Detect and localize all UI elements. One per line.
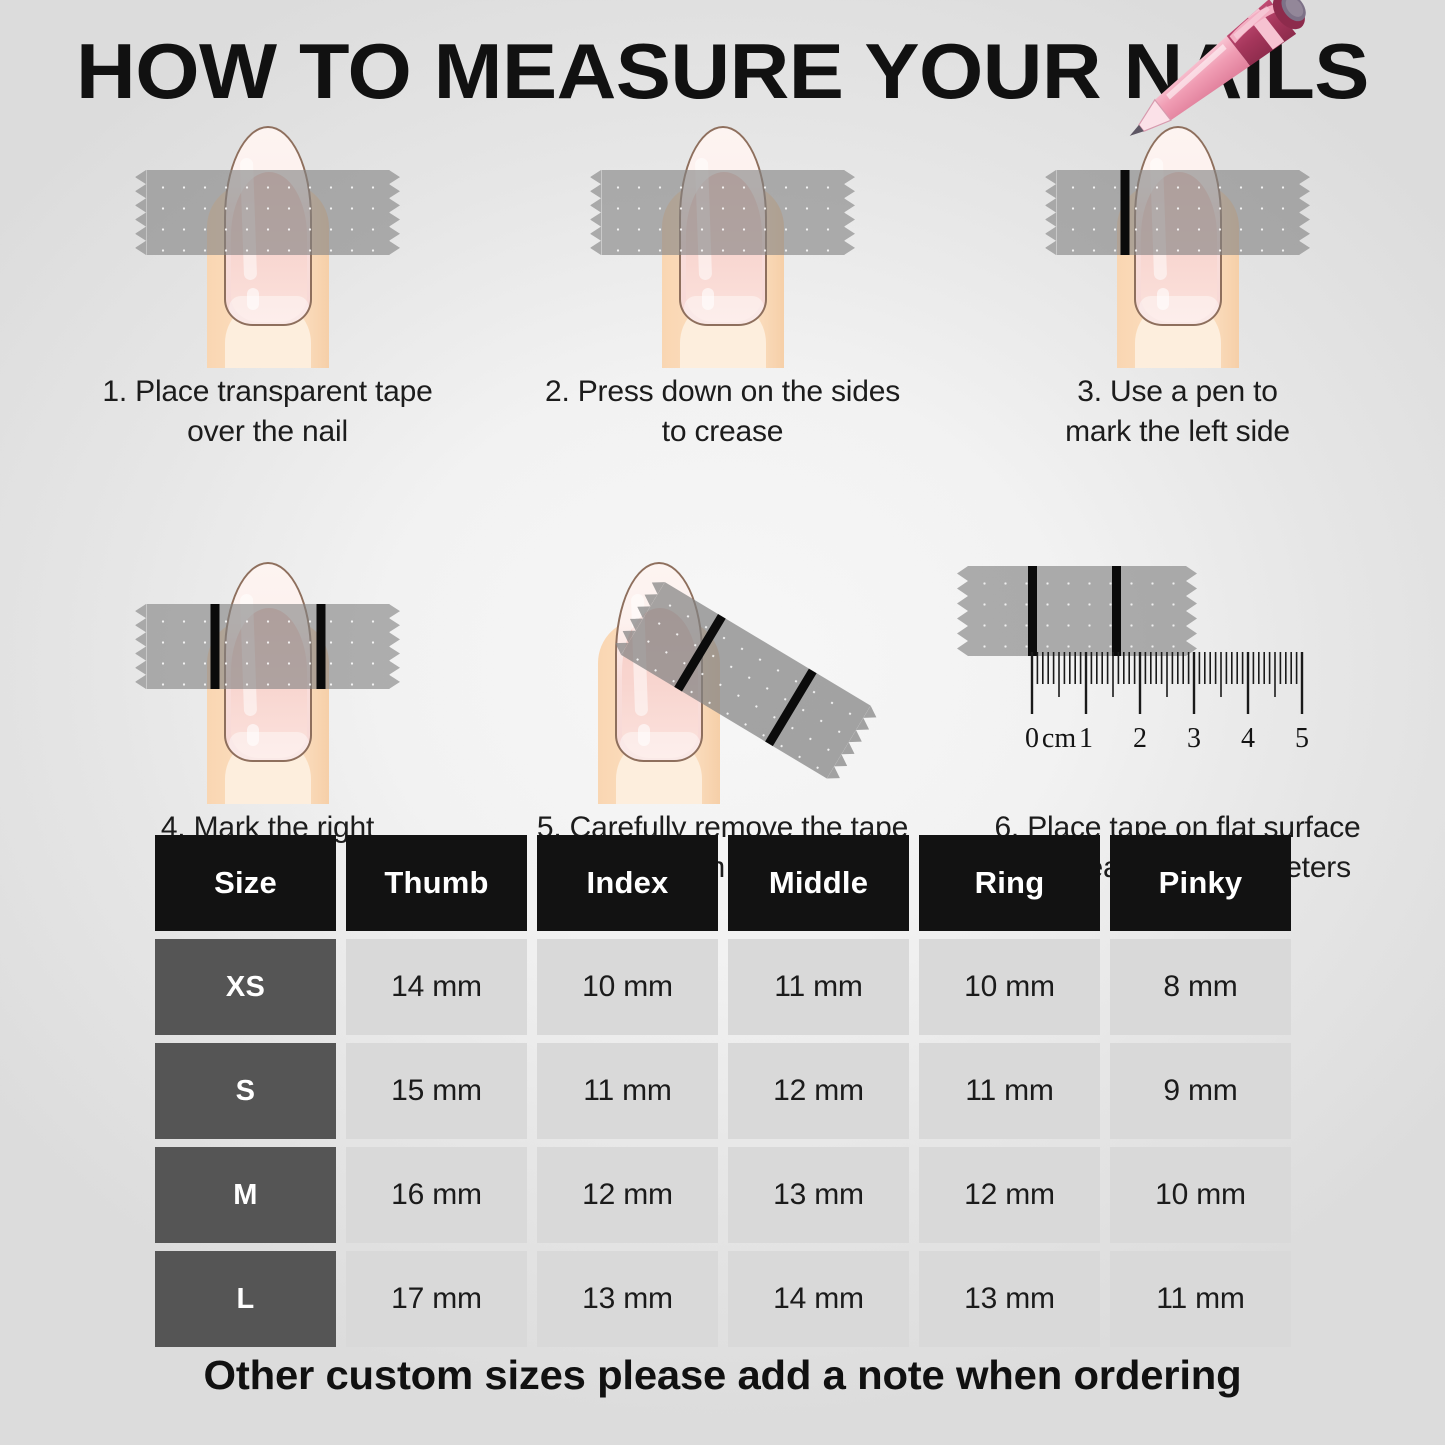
cell-s-pinky: 9 mm: [1110, 1043, 1291, 1139]
cell-l-ring: 13 mm: [919, 1251, 1100, 1347]
transparent-tape: [601, 170, 844, 255]
step-4-illustration: [40, 544, 495, 804]
tape-edge-left: [1045, 170, 1056, 255]
step-1-illustration: [40, 110, 495, 368]
tape-edge-left: [957, 566, 968, 656]
cell-l-index: 13 mm: [537, 1251, 718, 1347]
size-label-l: L: [155, 1251, 336, 1347]
pen-mark-left: [1028, 566, 1037, 656]
nail-tip: [684, 296, 764, 326]
tape-texture: [146, 170, 389, 255]
ruler-tick-1: 1: [1079, 723, 1093, 754]
tape-edge-left: [135, 170, 146, 255]
steps-grid: 1. Place transparent tape over the nail: [40, 110, 1405, 888]
ruler-tick-2: 2: [1133, 723, 1147, 754]
step-3-caption-line2: mark the left side: [958, 412, 1398, 452]
cell-s-thumb: 15 mm: [346, 1043, 527, 1139]
tape-edge-right: [389, 170, 400, 255]
step-2-caption-line1: 2. Press down on the sides: [503, 372, 943, 412]
ruler-icon: 0 cm 1 2 3 4 5: [958, 652, 1398, 762]
tape-edge-right: [389, 604, 400, 689]
transparent-tape: [1056, 170, 1299, 255]
step-1: 1. Place transparent tape over the nail: [40, 110, 495, 452]
cell-m-middle: 13 mm: [728, 1147, 909, 1243]
cell-m-ring: 12 mm: [919, 1147, 1100, 1243]
nail-tip: [620, 732, 700, 762]
ruler-tick-0: 0: [1025, 723, 1039, 754]
table-row: M 16 mm 12 mm 13 mm 12 mm 10 mm: [155, 1147, 1323, 1243]
tape-texture: [146, 604, 389, 689]
cell-m-pinky: 10 mm: [1110, 1147, 1291, 1243]
step-2: 2. Press down on the sides to crease: [495, 110, 950, 452]
pen-mark-right: [1112, 566, 1121, 656]
tape-texture: [601, 170, 844, 255]
pen-mark-left: [210, 604, 219, 689]
cell-xs-index: 10 mm: [537, 939, 718, 1035]
ruler-tick-4: 4: [1241, 723, 1255, 754]
table-header-pinky: Pinky: [1110, 835, 1291, 931]
nail-tip: [1139, 296, 1219, 326]
table-row: S 15 mm 11 mm 12 mm 11 mm 9 mm: [155, 1043, 1323, 1139]
table-row: L 17 mm 13 mm 14 mm 13 mm 11 mm: [155, 1251, 1323, 1347]
step-5-illustration: [495, 544, 950, 804]
table-header-size: Size: [155, 835, 336, 931]
size-table: Size Thumb Index Middle Ring Pinky XS 14…: [155, 835, 1323, 1347]
table-header-middle: Middle: [728, 835, 909, 931]
cell-xs-pinky: 8 mm: [1110, 939, 1291, 1035]
nail-tip: [229, 732, 309, 762]
step-1-caption-line2: over the nail: [48, 412, 488, 452]
footer-note: Other custom sizes please add a note whe…: [0, 1352, 1445, 1399]
cell-m-thumb: 16 mm: [346, 1147, 527, 1243]
cell-s-middle: 12 mm: [728, 1043, 909, 1139]
pen-mark-right: [316, 604, 325, 689]
cell-xs-thumb: 14 mm: [346, 939, 527, 1035]
tape-edge-right: [844, 170, 855, 255]
tape-on-ruler: [968, 566, 1186, 656]
ruler-tick-3: 3: [1187, 723, 1201, 754]
step-2-illustration: [495, 110, 950, 368]
table-row: XS 14 mm 10 mm 11 mm 10 mm 8 mm: [155, 939, 1323, 1035]
step-3: 3. Use a pen to mark the left side: [950, 110, 1405, 452]
size-label-xs: XS: [155, 939, 336, 1035]
transparent-tape: [146, 170, 389, 255]
tape-edge-right: [1299, 170, 1310, 255]
ruler-tick-5: 5: [1295, 723, 1309, 754]
cell-xs-ring: 10 mm: [919, 939, 1100, 1035]
size-label-m: M: [155, 1147, 336, 1243]
tape-edge-left: [590, 170, 601, 255]
ruler-unit-label: cm: [1042, 723, 1076, 754]
table-header-thumb: Thumb: [346, 835, 527, 931]
cell-s-ring: 11 mm: [919, 1043, 1100, 1139]
cell-l-thumb: 17 mm: [346, 1251, 527, 1347]
ruler-group: 0 cm 1 2 3 4 5: [958, 552, 1398, 802]
step-6-illustration: 0 cm 1 2 3 4 5: [950, 544, 1405, 804]
cell-s-index: 11 mm: [537, 1043, 718, 1139]
step-1-caption: 1. Place transparent tape over the nail: [48, 372, 488, 452]
step-3-illustration: [950, 110, 1405, 368]
table-header-row: Size Thumb Index Middle Ring Pinky: [155, 835, 1323, 931]
tape-texture: [968, 566, 1186, 656]
cell-m-index: 12 mm: [537, 1147, 718, 1243]
step-1-caption-line1: 1. Place transparent tape: [48, 372, 488, 412]
table-header-index: Index: [537, 835, 718, 931]
size-label-s: S: [155, 1043, 336, 1139]
table-header-ring: Ring: [919, 835, 1100, 931]
tape-edge-left: [135, 604, 146, 689]
step-2-caption: 2. Press down on the sides to crease: [503, 372, 943, 452]
cell-l-middle: 14 mm: [728, 1251, 909, 1347]
nail-tip: [229, 296, 309, 326]
steps-row-1: 1. Place transparent tape over the nail: [40, 110, 1405, 452]
step-2-caption-line2: to crease: [503, 412, 943, 452]
cell-l-pinky: 11 mm: [1110, 1251, 1291, 1347]
step-3-caption-line1: 3. Use a pen to: [958, 372, 1398, 412]
step-3-caption: 3. Use a pen to mark the left side: [958, 372, 1398, 452]
transparent-tape: [146, 604, 389, 689]
cell-xs-middle: 11 mm: [728, 939, 909, 1035]
tape-edge-right: [1186, 566, 1197, 656]
tape-texture: [1056, 170, 1299, 255]
pen-mark-left: [1120, 170, 1129, 255]
